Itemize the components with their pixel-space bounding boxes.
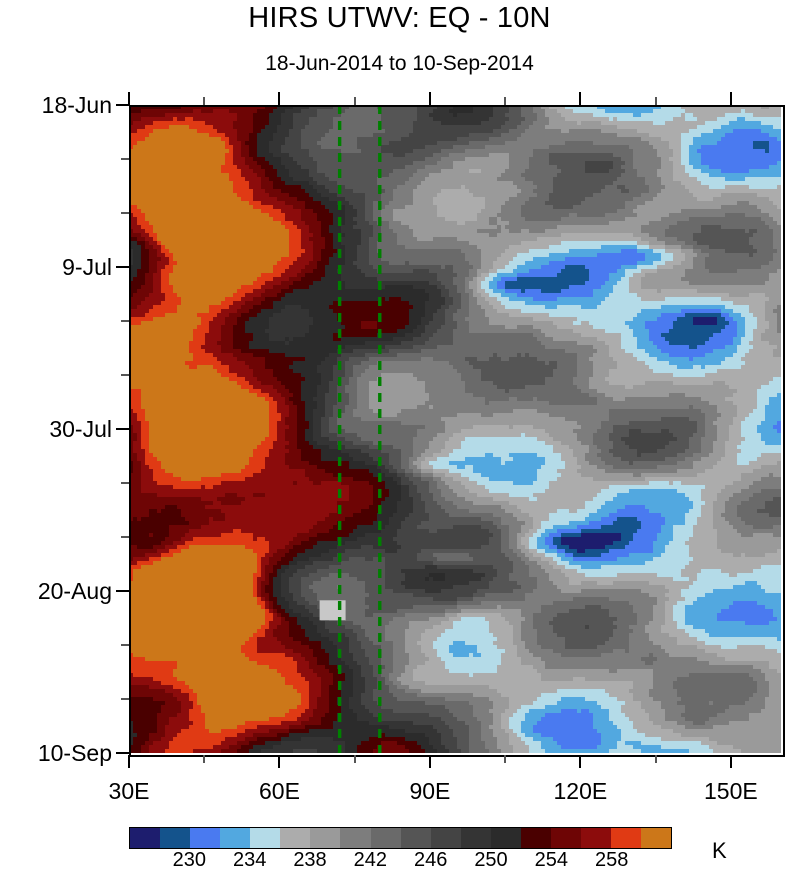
x-axis-tick-top	[730, 92, 732, 105]
x-axis-minor-tick	[504, 755, 506, 763]
x-axis-tick	[730, 755, 732, 768]
y-axis-label: 9-Jul	[0, 254, 112, 281]
x-axis-tick	[128, 755, 130, 768]
y-axis-minor-tick	[121, 536, 129, 538]
colorbar	[129, 827, 672, 849]
x-axis-tick	[278, 755, 280, 768]
colorbar-swatch	[551, 828, 581, 848]
y-axis-tick	[116, 590, 129, 592]
y-axis-minor-tick	[121, 482, 129, 484]
y-axis-label: 18-Jun	[0, 92, 112, 119]
colorbar-swatch	[190, 828, 220, 848]
colorbar-swatch	[250, 828, 280, 848]
x-axis-label: 120E	[554, 778, 608, 805]
y-axis-minor-tick	[121, 698, 129, 700]
y-axis-minor-tick	[121, 158, 129, 160]
colorbar-swatch	[340, 828, 370, 848]
x-axis-minor-tick	[655, 97, 657, 105]
y-axis-tick	[116, 428, 129, 430]
colorbar-unit-label: K	[712, 838, 727, 864]
x-axis-tick	[429, 755, 431, 768]
colorbar-swatch	[611, 828, 641, 848]
colorbar-swatch	[160, 828, 190, 848]
x-axis-tick-top	[429, 92, 431, 105]
x-axis-label: 90E	[409, 778, 450, 805]
colorbar-swatch	[431, 828, 461, 848]
colorbar-swatch	[130, 828, 160, 848]
x-axis-label: 30E	[109, 778, 150, 805]
colorbar-swatch	[581, 828, 611, 848]
x-axis-tick-top	[128, 92, 130, 105]
x-axis-tick-top	[278, 92, 280, 105]
colorbar-swatch	[371, 828, 401, 848]
contour-field	[129, 105, 781, 753]
x-axis-tick-top	[579, 92, 581, 105]
hovmoller-plot	[129, 105, 781, 753]
y-axis-minor-tick	[121, 212, 129, 214]
colorbar-swatch	[401, 828, 431, 848]
x-axis-tick	[579, 755, 581, 768]
x-axis-label: 60E	[259, 778, 300, 805]
chart-subtitle: 18-Jun-2014 to 10-Sep-2014	[0, 52, 799, 76]
y-axis-tick	[116, 752, 129, 754]
x-axis-minor-tick	[203, 97, 205, 105]
missing-data-patch	[320, 600, 346, 620]
colorbar-swatch	[220, 828, 250, 848]
colorbar-swatch	[521, 828, 551, 848]
x-axis-label: 150E	[704, 778, 758, 805]
y-axis-minor-tick	[121, 320, 129, 322]
y-axis-label: 10-Sep	[0, 740, 112, 767]
page-title: HIRS UTWV: EQ - 10N	[0, 2, 799, 35]
y-axis-minor-tick	[121, 374, 129, 376]
y-axis-label: 30-Jul	[0, 416, 112, 443]
y-axis-minor-tick	[121, 644, 129, 646]
x-axis-minor-tick	[655, 755, 657, 763]
colorbar-swatch	[280, 828, 310, 848]
colorbar-swatch	[310, 828, 340, 848]
y-axis-tick	[116, 266, 129, 268]
x-axis-minor-tick	[203, 755, 205, 763]
colorbar-swatch	[641, 828, 671, 848]
x-axis-minor-tick	[354, 97, 356, 105]
x-axis-minor-tick	[354, 755, 356, 763]
y-axis-label: 20-Aug	[0, 578, 112, 605]
colorbar-swatch	[491, 828, 521, 848]
colorbar-swatch	[461, 828, 491, 848]
x-axis-minor-tick	[504, 97, 506, 105]
